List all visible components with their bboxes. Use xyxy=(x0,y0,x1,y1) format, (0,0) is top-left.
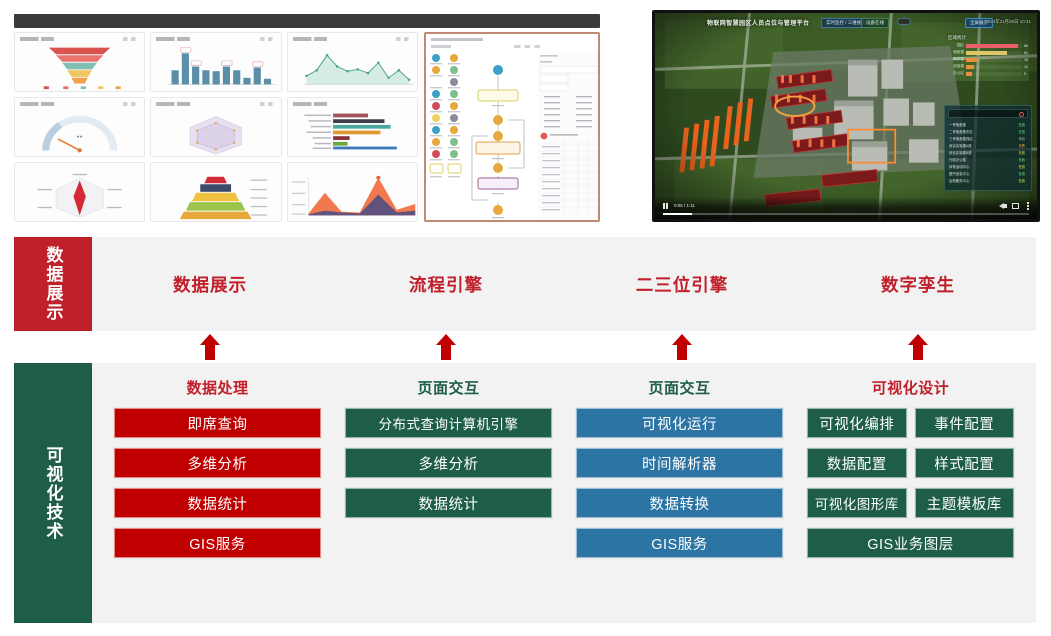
presentation-column-2[interactable]: 流程引擎 xyxy=(328,237,564,331)
multi-area-chart-icon xyxy=(288,172,417,221)
video-timestamp: 0:05 / 1:11 xyxy=(674,203,695,208)
more-vertical-icon[interactable] xyxy=(1027,202,1029,210)
radar-filled-chart-icon xyxy=(15,172,144,221)
presentation-column-title: 流程引擎 xyxy=(409,272,483,297)
twin-list-item[interactable]: 体育运动中心在线 xyxy=(945,163,1031,170)
flow-designer-screenshot[interactable] xyxy=(424,32,600,222)
twin-list-item-label: 行政办公楼 xyxy=(949,157,966,162)
twin-list-item[interactable]: 行政办公楼在线 xyxy=(945,156,1031,163)
arrow-cell-3 xyxy=(564,333,800,361)
technology-column-1: 数据处理即席查询多维分析数据统计GIS服务 xyxy=(102,377,333,609)
layer-label-visualization-technology: 可视化技术 xyxy=(14,363,92,623)
technology-column-subtitle: 数据处理 xyxy=(186,377,248,398)
pause-icon[interactable] xyxy=(663,203,668,209)
card-actions-icon[interactable] xyxy=(123,37,139,41)
twin-stats-panel: 区域统计 园区86宿舍楼61教学楼18实验楼12办公区9 xyxy=(948,35,1032,78)
layer-label-data-presentation: 数据展示 xyxy=(14,237,92,331)
technology-chip[interactable]: 多维分析 xyxy=(114,448,321,478)
digital-twin-screenshot[interactable]: 物联网智慧园区人员点位与管理平台 实时监控 / 三维视图 设备在线 全屏展示 2… xyxy=(652,10,1040,222)
status-badge: 告警 xyxy=(1017,143,1027,148)
status-badge: 在线 xyxy=(1017,129,1027,134)
status-badge: 在线 xyxy=(1017,157,1027,162)
technology-chip[interactable]: 数据转换 xyxy=(576,488,783,518)
chart-card-radar[interactable] xyxy=(150,97,281,157)
video-progress-fill xyxy=(663,213,692,215)
presentation-column-title: 数据展示 xyxy=(173,272,247,297)
presentation-column-title: 二三位引擎 xyxy=(636,272,729,297)
chart-card-bar[interactable] xyxy=(150,32,281,92)
twin-stats-heading: 区域统计 xyxy=(948,35,1032,41)
twin-list-item[interactable]: 二号宿舍楼东区在线 xyxy=(945,128,1031,135)
twin-search-box[interactable] xyxy=(948,109,1028,118)
technology-chip[interactable]: 多维分析 xyxy=(345,448,552,478)
twin-stat-value: 61 xyxy=(1024,51,1032,55)
technology-chip[interactable]: 事件配置 xyxy=(915,408,1015,438)
up-arrow-icon xyxy=(671,333,693,361)
card-title-bar xyxy=(293,37,327,41)
twin-list-item[interactable]: 综合实验楼B座在线 xyxy=(945,149,1031,156)
technology-chip[interactable]: 数据配置 xyxy=(807,448,907,478)
twin-list-item-label: 综合实验楼B座 xyxy=(949,150,972,155)
twin-list-item-label: 综合实验楼A座 xyxy=(949,143,972,148)
twin-stat-label: 办公区 xyxy=(948,71,964,76)
twin-list-item-label: 后勤服务中心 xyxy=(949,178,969,183)
card-actions-icon[interactable] xyxy=(260,37,276,41)
twin-stat-track xyxy=(966,72,1022,76)
video-scrubber[interactable] xyxy=(663,213,1029,215)
up-arrow-icon xyxy=(199,333,221,361)
card-actions-icon[interactable] xyxy=(396,37,412,41)
up-arrow-icon xyxy=(907,333,929,361)
presentation-column-1[interactable]: 数据展示 xyxy=(92,237,328,331)
radar-chart-icon xyxy=(151,107,280,156)
twin-stat-row: 教学楼18 xyxy=(948,57,1032,62)
twin-stat-track xyxy=(966,58,1022,62)
technology-column-subtitle: 页面交互 xyxy=(417,377,479,398)
chart-card-radar-filled[interactable] xyxy=(14,162,145,222)
technology-chip[interactable]: 时间解析器 xyxy=(576,448,783,478)
arrow-row xyxy=(92,331,1036,363)
volume-icon[interactable] xyxy=(999,203,1004,209)
flowchart-canvas-icon xyxy=(426,50,600,222)
technology-column-subtitle: 页面交互 xyxy=(648,377,710,398)
twin-list-item-label: 一号宿舍楼 xyxy=(949,122,966,127)
chart-card-gauge[interactable]: ●● xyxy=(14,97,145,157)
twin-chip-toggle[interactable] xyxy=(897,18,911,25)
chart-card-horizontal-bar[interactable] xyxy=(287,97,418,157)
up-arrow-icon xyxy=(435,333,457,361)
card-title-bar xyxy=(20,37,54,41)
technology-chip[interactable]: 可视化图形库 xyxy=(807,488,907,518)
card-actions-icon[interactable] xyxy=(260,102,276,106)
card-title-bar xyxy=(20,102,54,106)
twin-stat-track xyxy=(966,51,1022,55)
search-icon[interactable] xyxy=(1019,112,1024,117)
technology-chip[interactable]: 数据统计 xyxy=(114,488,321,518)
top-media-row: ●● xyxy=(0,0,1051,232)
status-badge: 在线 xyxy=(1017,178,1027,183)
technology-chip[interactable]: GIS服务 xyxy=(114,528,321,558)
card-title-bar xyxy=(156,37,190,41)
area-line-chart-icon xyxy=(288,42,417,91)
twin-stat-label: 教学楼 xyxy=(948,57,964,62)
technology-columns: 数据处理即席查询多维分析数据统计GIS服务页面交互分布式查询计算机引擎多维分析数… xyxy=(92,363,1036,623)
technology-chip[interactable]: 可视化运行 xyxy=(576,408,783,438)
twin-list-item[interactable]: 图书信息中心在线 xyxy=(945,170,1031,177)
status-badge: 离线 xyxy=(1017,136,1027,141)
twin-stat-fill xyxy=(966,44,1018,48)
twin-list-item[interactable]: 综合实验楼A座告警 xyxy=(945,142,1031,149)
bi-dashboard-body: ●● xyxy=(14,32,600,222)
twin-list-item[interactable]: 三号宿舍楼西区离线 xyxy=(945,135,1031,142)
technology-chip-group: 可视化运行时间解析器数据转换GIS服务 xyxy=(576,408,783,558)
gauge-chart-icon: ●● xyxy=(15,107,144,156)
twin-list-item-label: 三号宿舍楼西区 xyxy=(949,136,973,141)
twin-entity-list-panel[interactable]: 一号宿舍楼在线二号宿舍楼东区在线三号宿舍楼西区离线综合实验楼A座告警综合实验楼B… xyxy=(944,105,1032,191)
twin-stat-label: 宿舍楼 xyxy=(948,50,964,55)
arrow-cell-4 xyxy=(800,333,1036,361)
technology-chip-group: 可视化编排事件配置数据配置样式配置可视化图形库主题模板库GIS业务图层 xyxy=(807,408,1014,558)
chart-card-area-line[interactable] xyxy=(287,32,418,92)
twin-platform-title: 物联网智慧园区人员点位与管理平台 xyxy=(707,18,809,27)
twin-stat-fill xyxy=(966,72,972,76)
twin-stat-row: 实验楼12 xyxy=(948,64,1032,69)
flow-designer-subtitle xyxy=(431,45,451,48)
chart-card-pyramid[interactable] xyxy=(150,162,281,222)
twin-stat-row: 办公区9 xyxy=(948,71,1032,76)
svg-text:●●: ●● xyxy=(77,135,83,140)
layer-visualization-technology: 可视化技术 数据处理即席查询多维分析数据统计GIS服务页面交互分布式查询计算机引… xyxy=(14,363,1036,623)
technology-chip-group: 分布式查询计算机引擎多维分析数据统计 xyxy=(345,408,552,518)
technology-column-3: 页面交互可视化运行时间解析器数据转换GIS服务 xyxy=(564,377,795,609)
twin-stat-row: 园区86 xyxy=(948,43,1032,48)
technology-chip-group: 即席查询多维分析数据统计GIS服务 xyxy=(114,408,321,558)
bi-dashboard-screenshot[interactable]: ●● xyxy=(14,14,600,222)
layer-data-presentation: 数据展示 数据展示流程引擎二三位引擎数字孪生 xyxy=(14,237,1036,331)
card-title-bar xyxy=(293,102,327,106)
bar-chart-icon xyxy=(151,42,280,91)
pyramid-chart-icon xyxy=(151,172,280,221)
technology-column-4: 可视化设计可视化编排事件配置数据配置样式配置可视化图形库主题模板库GIS业务图层 xyxy=(795,377,1026,609)
technology-chip[interactable]: 数据统计 xyxy=(345,488,552,518)
funnel-chart-icon xyxy=(15,42,144,91)
twin-entity-list[interactable]: 一号宿舍楼在线二号宿舍楼东区在线三号宿舍楼西区离线综合实验楼A座告警综合实验楼B… xyxy=(945,121,1031,184)
twin-stat-track xyxy=(966,44,1022,48)
presentation-column-title: 数字孪生 xyxy=(881,272,955,297)
presentation-column-4[interactable]: 数字孪生 xyxy=(800,237,1036,331)
twin-stats-bar-list: 园区86宿舍楼61教学楼18实验楼12办公区9 xyxy=(948,43,1032,76)
twin-stat-label: 园区 xyxy=(948,43,964,48)
bi-chart-grid: ●● xyxy=(14,32,418,222)
slide-root: ●● xyxy=(0,0,1051,636)
presentation-columns: 数据展示流程引擎二三位引擎数字孪生 xyxy=(92,237,1036,331)
technology-chip[interactable]: 主题模板库 xyxy=(915,488,1015,518)
data-table-icon xyxy=(538,52,600,220)
card-actions-icon[interactable] xyxy=(123,102,139,106)
technology-chip[interactable]: 样式配置 xyxy=(915,448,1015,478)
chart-card-multi-area[interactable] xyxy=(287,162,418,222)
twin-list-item-label: 二号宿舍楼东区 xyxy=(949,129,973,134)
chart-card-funnel[interactable] xyxy=(14,32,145,92)
twin-stat-value: 12 xyxy=(1024,65,1032,69)
twin-stat-track xyxy=(966,65,1022,69)
twin-stat-value: 18 xyxy=(1024,58,1032,62)
twin-chip-device-status[interactable]: 设备在线 xyxy=(861,18,889,28)
twin-datetime: 2024年11月26日 10:41 xyxy=(985,19,1031,25)
bi-dashboard-titlebar xyxy=(14,14,600,28)
flow-designer-title xyxy=(431,38,483,41)
arrow-cell-1 xyxy=(92,333,328,361)
twin-stat-value: 9 xyxy=(1024,72,1032,76)
technology-column-subtitle: 可视化设计 xyxy=(872,377,950,398)
twin-stat-fill xyxy=(966,65,974,69)
status-badge: 在线 xyxy=(1017,171,1027,176)
presentation-column-3[interactable]: 二三位引擎 xyxy=(564,237,800,331)
node-palette-icon xyxy=(430,54,461,177)
status-badge: 在线 xyxy=(1017,164,1027,169)
horizontal-bar-chart-icon xyxy=(288,107,417,156)
status-badge: 在线 xyxy=(1017,150,1027,155)
twin-list-item-label: 图书信息中心 xyxy=(949,171,969,176)
twin-stat-fill xyxy=(966,58,978,62)
card-title-bar xyxy=(156,102,190,106)
twin-stat-value: 86 xyxy=(1024,44,1032,48)
flow-designer-toolbar-icons[interactable] xyxy=(514,45,540,48)
technology-chip-full[interactable]: GIS业务图层 xyxy=(807,528,1014,558)
twin-stat-row: 宿舍楼61 xyxy=(948,50,1032,55)
twin-list-item[interactable]: 一号宿舍楼在线 xyxy=(945,121,1031,128)
technology-chip[interactable]: GIS服务 xyxy=(576,528,783,558)
technology-chip[interactable]: 可视化编排 xyxy=(807,408,907,438)
technology-chip[interactable]: 分布式查询计算机引擎 xyxy=(345,408,552,438)
video-player-controls[interactable]: 0:05 / 1:11 xyxy=(655,197,1037,219)
twin-list-item[interactable]: 后勤服务中心在线 xyxy=(945,177,1031,184)
technology-chip[interactable]: 即席查询 xyxy=(114,408,321,438)
arrow-cell-2 xyxy=(328,333,564,361)
twin-list-item-label: 体育运动中心 xyxy=(949,164,969,169)
status-badge: 在线 xyxy=(1017,122,1027,127)
fullscreen-icon[interactable] xyxy=(1012,203,1019,209)
twin-stat-fill xyxy=(966,51,1007,55)
technology-column-2: 页面交互分布式查询计算机引擎多维分析数据统计 xyxy=(333,377,564,609)
twin-stat-label: 实验楼 xyxy=(948,64,964,69)
